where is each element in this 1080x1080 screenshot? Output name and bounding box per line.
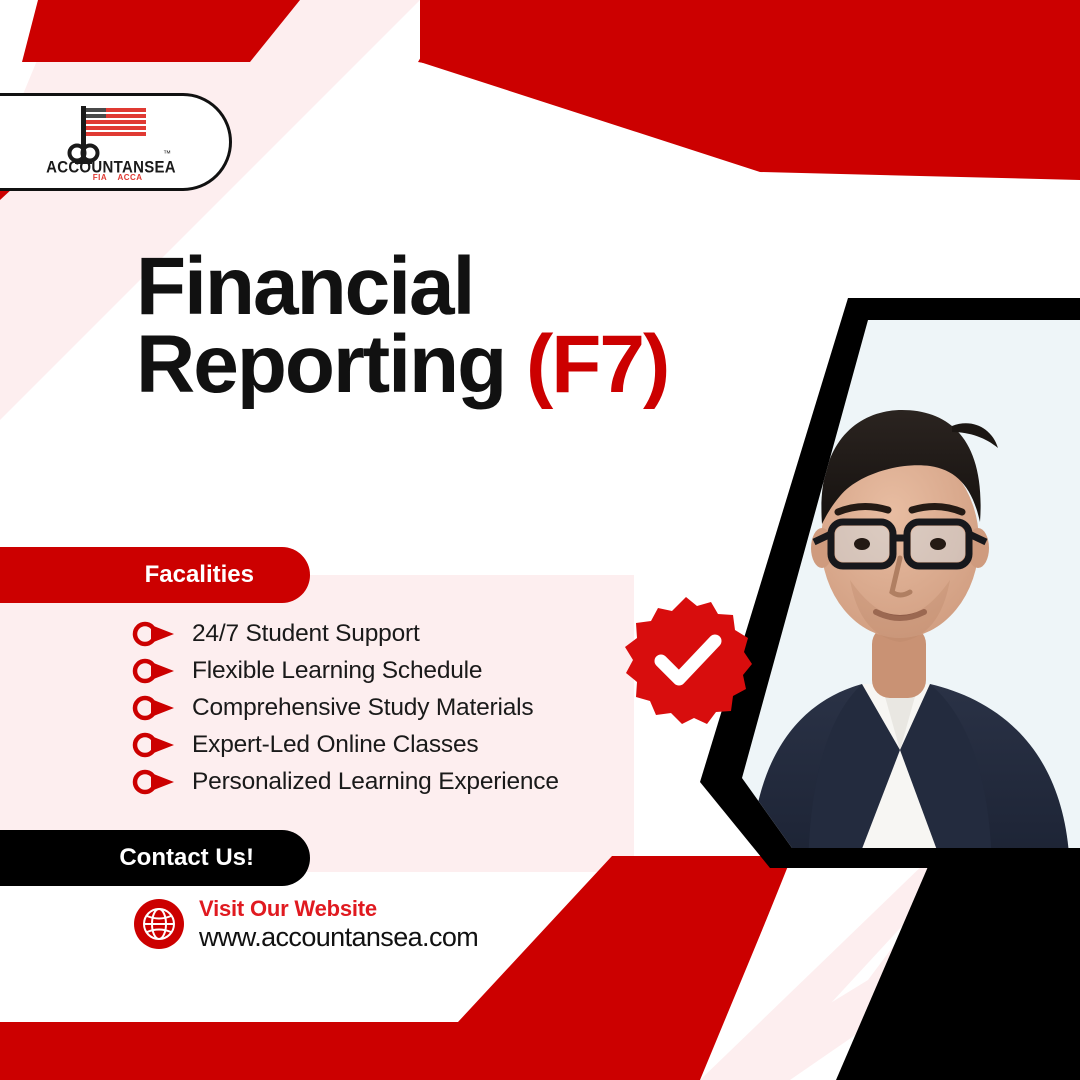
- contact-badge-label: Contact Us!: [119, 844, 254, 872]
- verified-check-seal-icon: [620, 593, 752, 725]
- red-ring-arrow-icon: [132, 620, 178, 648]
- red-ring-arrow-icon: [132, 657, 178, 685]
- logo-qualification-acca: ACCA: [117, 173, 142, 182]
- title-line-2: Reporting (F7): [136, 326, 668, 404]
- facilities-badge-label: Facalities: [145, 561, 254, 589]
- website-url: www.accountansea.com: [199, 922, 478, 952]
- list-item-label: Expert-Led Online Classes: [192, 731, 478, 759]
- title-line-2-main: Reporting: [136, 319, 526, 410]
- red-ring-arrow-icon: [132, 694, 178, 722]
- instructor-portrait-frame: [600, 280, 1080, 880]
- contact-badge: Contact Us!: [0, 830, 310, 886]
- promo-poster: ACCOUNTANSEA ™ FIA ACCA Financial Report…: [0, 0, 1080, 1080]
- list-item: Flexible Learning Schedule: [132, 655, 559, 686]
- red-ring-arrow-icon: [132, 768, 178, 796]
- logo-wordmark: ACCOUNTANSEA: [46, 159, 176, 177]
- list-item-label: 24/7 Student Support: [192, 620, 420, 648]
- website-text: Visit Our Website www.accountansea.com: [199, 897, 478, 952]
- list-item-label: Comprehensive Study Materials: [192, 694, 533, 722]
- key-flag-icon: ACCOUNTANSEA ™ FIA ACCA: [45, 102, 177, 182]
- title-line-1: Financial: [136, 248, 668, 326]
- list-item: Personalized Learning Experience: [132, 766, 559, 797]
- red-ring-arrow-icon: [132, 731, 178, 759]
- facilities-badge: Facalities: [0, 547, 310, 603]
- brand-logo-pill[interactable]: ACCOUNTANSEA ™ FIA ACCA: [0, 93, 232, 191]
- logo-trademark: ™: [163, 149, 171, 158]
- website-link[interactable]: Visit Our Website www.accountansea.com: [133, 897, 478, 952]
- list-item: Comprehensive Study Materials: [132, 692, 559, 723]
- page-title: Financial Reporting (F7): [136, 248, 668, 404]
- list-item: 24/7 Student Support: [132, 618, 559, 649]
- facilities-list: 24/7 Student Support Flexible Learning S…: [132, 618, 559, 797]
- list-item-label: Personalized Learning Experience: [192, 768, 559, 796]
- title-course-code: (F7): [526, 319, 668, 410]
- list-item-label: Flexible Learning Schedule: [192, 657, 482, 685]
- list-item: Expert-Led Online Classes: [132, 729, 559, 760]
- globe-icon: [133, 898, 185, 950]
- website-title: Visit Our Website: [199, 897, 478, 922]
- logo-qualification-fia: FIA: [93, 173, 107, 182]
